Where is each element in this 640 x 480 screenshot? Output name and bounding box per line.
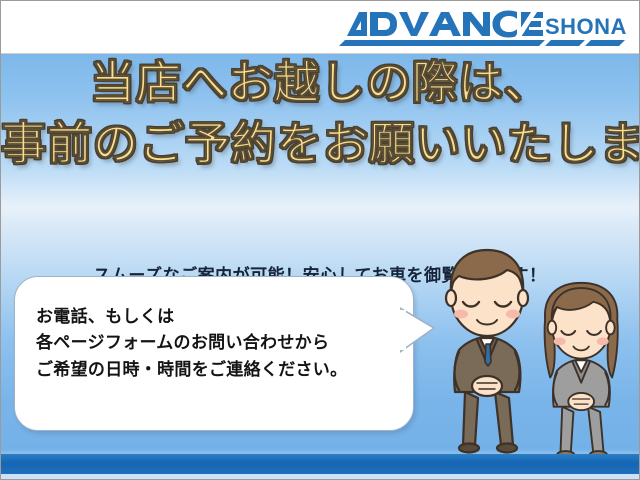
headline-line-2: 事前のご予約をお願いいたします!: [1, 121, 639, 166]
bubble-line-1: お電話、もしくは: [36, 304, 398, 330]
speech-bubble-tail-icon: [400, 306, 436, 358]
speech-bubble: お電話、もしくは 各ページフォームのお問い合わせから ご希望の日時・時間をご連絡…: [14, 276, 414, 431]
bowing-man-icon: [446, 250, 528, 453]
hero-panel: 当店へお越しの際は、 事前のご予約をお願いいたします! スムーズなご案内が可能！…: [1, 54, 639, 479]
header-bar: SHONAN: [1, 1, 639, 54]
flyer-root: SHONAN 当店へお越しの際は、 事前のご予約をお願いいたします! スムーズな…: [0, 0, 640, 480]
advance-shonan-logo-icon: SHONAN: [337, 9, 627, 47]
logo-shonan-text: SHONAN: [545, 14, 627, 39]
headline-block: 当店へお越しの際は、 事前のご予約をお願いいたします!: [1, 60, 639, 166]
bubble-line-3: ご希望の日時・時間をご連絡ください。: [36, 357, 398, 383]
bowing-woman-icon: [545, 283, 618, 459]
speech-bubble-text: お電話、もしくは 各ページフォームのお問い合わせから ご希望の日時・時間をご連絡…: [36, 304, 398, 383]
bubble-line-2: 各ページフォームのお問い合わせから: [36, 330, 398, 356]
advance-shonan-logo[interactable]: SHONAN: [337, 9, 627, 47]
headline-line-1: 当店へお越しの際は、: [1, 60, 639, 105]
bowing-staff-pair: [433, 240, 639, 470]
